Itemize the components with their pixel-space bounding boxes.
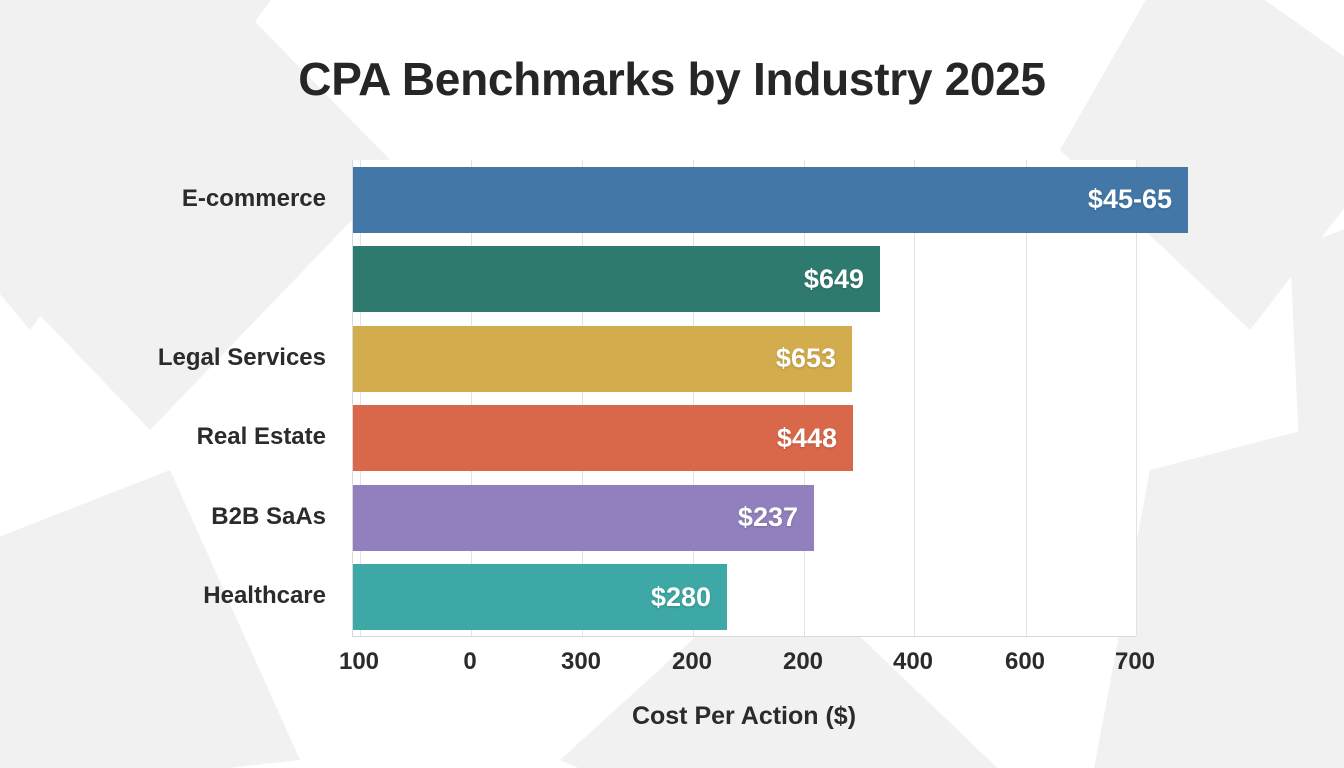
chart-title: CPA Benchmarks by Industry 2025 — [0, 52, 1344, 106]
y-axis-label: E-commerce — [0, 185, 326, 213]
y-axis-label: Healthcare — [0, 582, 326, 610]
bar-row: $649 — [353, 246, 1136, 312]
plot-area: $45-65$649$653$448$237$280 — [352, 160, 1136, 637]
bar-value-label: $649 — [804, 264, 864, 295]
bar-value-label: $280 — [651, 582, 711, 613]
bar[interactable]: $649 — [353, 246, 880, 312]
bar-row: $45-65 — [353, 167, 1136, 233]
bar-value-label: $45-65 — [1088, 184, 1172, 215]
x-axis-title: Cost Per Action ($) — [352, 702, 1136, 731]
x-axis-tick-label: 700 — [1115, 648, 1155, 676]
x-axis-tick-label: 600 — [1005, 648, 1045, 676]
chart-card: CPA Benchmarks by Industry 2025 E-commer… — [0, 0, 1344, 768]
x-axis-tick-label: 300 — [561, 648, 601, 676]
y-axis-label: Real Estate — [0, 423, 326, 451]
bar[interactable]: $280 — [353, 564, 727, 630]
bar[interactable]: $45-65 — [353, 167, 1188, 233]
x-axis-tick-label: 200 — [783, 648, 823, 676]
bar-value-label: $448 — [777, 423, 837, 454]
bar-value-label: $237 — [738, 502, 798, 533]
bar-row: $237 — [353, 485, 1136, 551]
x-axis-tick-label: 0 — [463, 648, 476, 676]
x-axis-tick-label: 400 — [893, 648, 933, 676]
bar[interactable]: $448 — [353, 405, 853, 471]
bar[interactable]: $237 — [353, 485, 814, 551]
x-axis-tick-label: 200 — [672, 648, 712, 676]
y-axis-label: Legal Services — [0, 344, 326, 372]
y-axis-labels: E-commerceLegal ServicesReal EstateB2B S… — [0, 160, 340, 637]
bar-row: $653 — [353, 326, 1136, 392]
y-axis-label: B2B SaAs — [0, 503, 326, 531]
x-axis-ticks: 1000300200200400600700 — [352, 648, 1136, 680]
x-axis-tick-label: 100 — [339, 648, 379, 676]
bar-row: $448 — [353, 405, 1136, 471]
bar[interactable]: $653 — [353, 326, 852, 392]
bar-value-label: $653 — [776, 343, 836, 374]
bar-row: $280 — [353, 564, 1136, 630]
